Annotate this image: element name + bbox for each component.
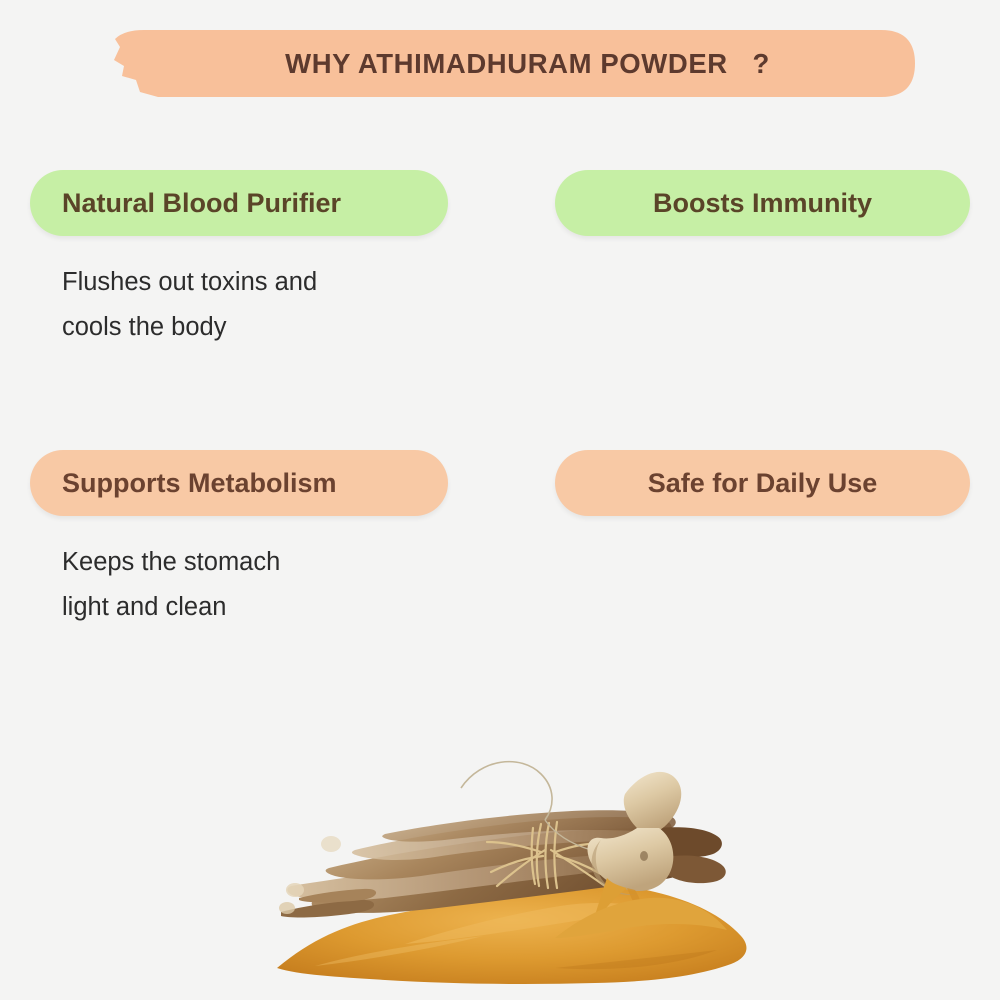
- benefit-pill-natural-blood-purifier[interactable]: Natural Blood Purifier: [30, 170, 448, 236]
- benefit-pill-label: Safe for Daily Use: [648, 468, 878, 499]
- benefits-grid: Natural Blood Purifier Flushes out toxin…: [0, 170, 1000, 630]
- benefit-row: Supports Metabolism Keeps the stomach li…: [0, 450, 1000, 630]
- benefit-card-natural-blood-purifier: Natural Blood Purifier Flushes out toxin…: [0, 170, 500, 350]
- benefit-pill-label: Boosts Immunity: [653, 188, 872, 219]
- benefit-pill-safe-for-daily-use[interactable]: Safe for Daily Use: [555, 450, 970, 516]
- benefit-card-boosts-immunity: Boosts Immunity Rich in chlorophyll, iro…: [500, 170, 1000, 350]
- title-banner: WHY ATHIMADHURAM POWDER ?: [110, 30, 915, 97]
- wire-loop: [461, 762, 552, 820]
- benefit-row: Natural Blood Purifier Flushes out toxin…: [0, 170, 1000, 350]
- row-spacer: [0, 350, 1000, 450]
- product-photo-licorice-root-and-powder: [255, 700, 775, 990]
- benefit-pill-boosts-immunity[interactable]: Boosts Immunity: [555, 170, 970, 236]
- benefit-description: Keeps the stomach light and clean: [62, 540, 500, 630]
- benefit-pill-label: Natural Blood Purifier: [62, 188, 341, 219]
- page-title: WHY ATHIMADHURAM POWDER ?: [110, 30, 915, 97]
- benefit-pill-label: Supports Metabolism: [62, 468, 337, 499]
- benefit-card-safe-for-daily-use: Safe for Daily Use Traditionally used in…: [500, 450, 1000, 630]
- benefit-card-supports-metabolism: Supports Metabolism Keeps the stomach li…: [0, 450, 500, 630]
- benefit-description: Flushes out toxins and cools the body: [62, 260, 500, 350]
- benefit-pill-supports-metabolism[interactable]: Supports Metabolism: [30, 450, 448, 516]
